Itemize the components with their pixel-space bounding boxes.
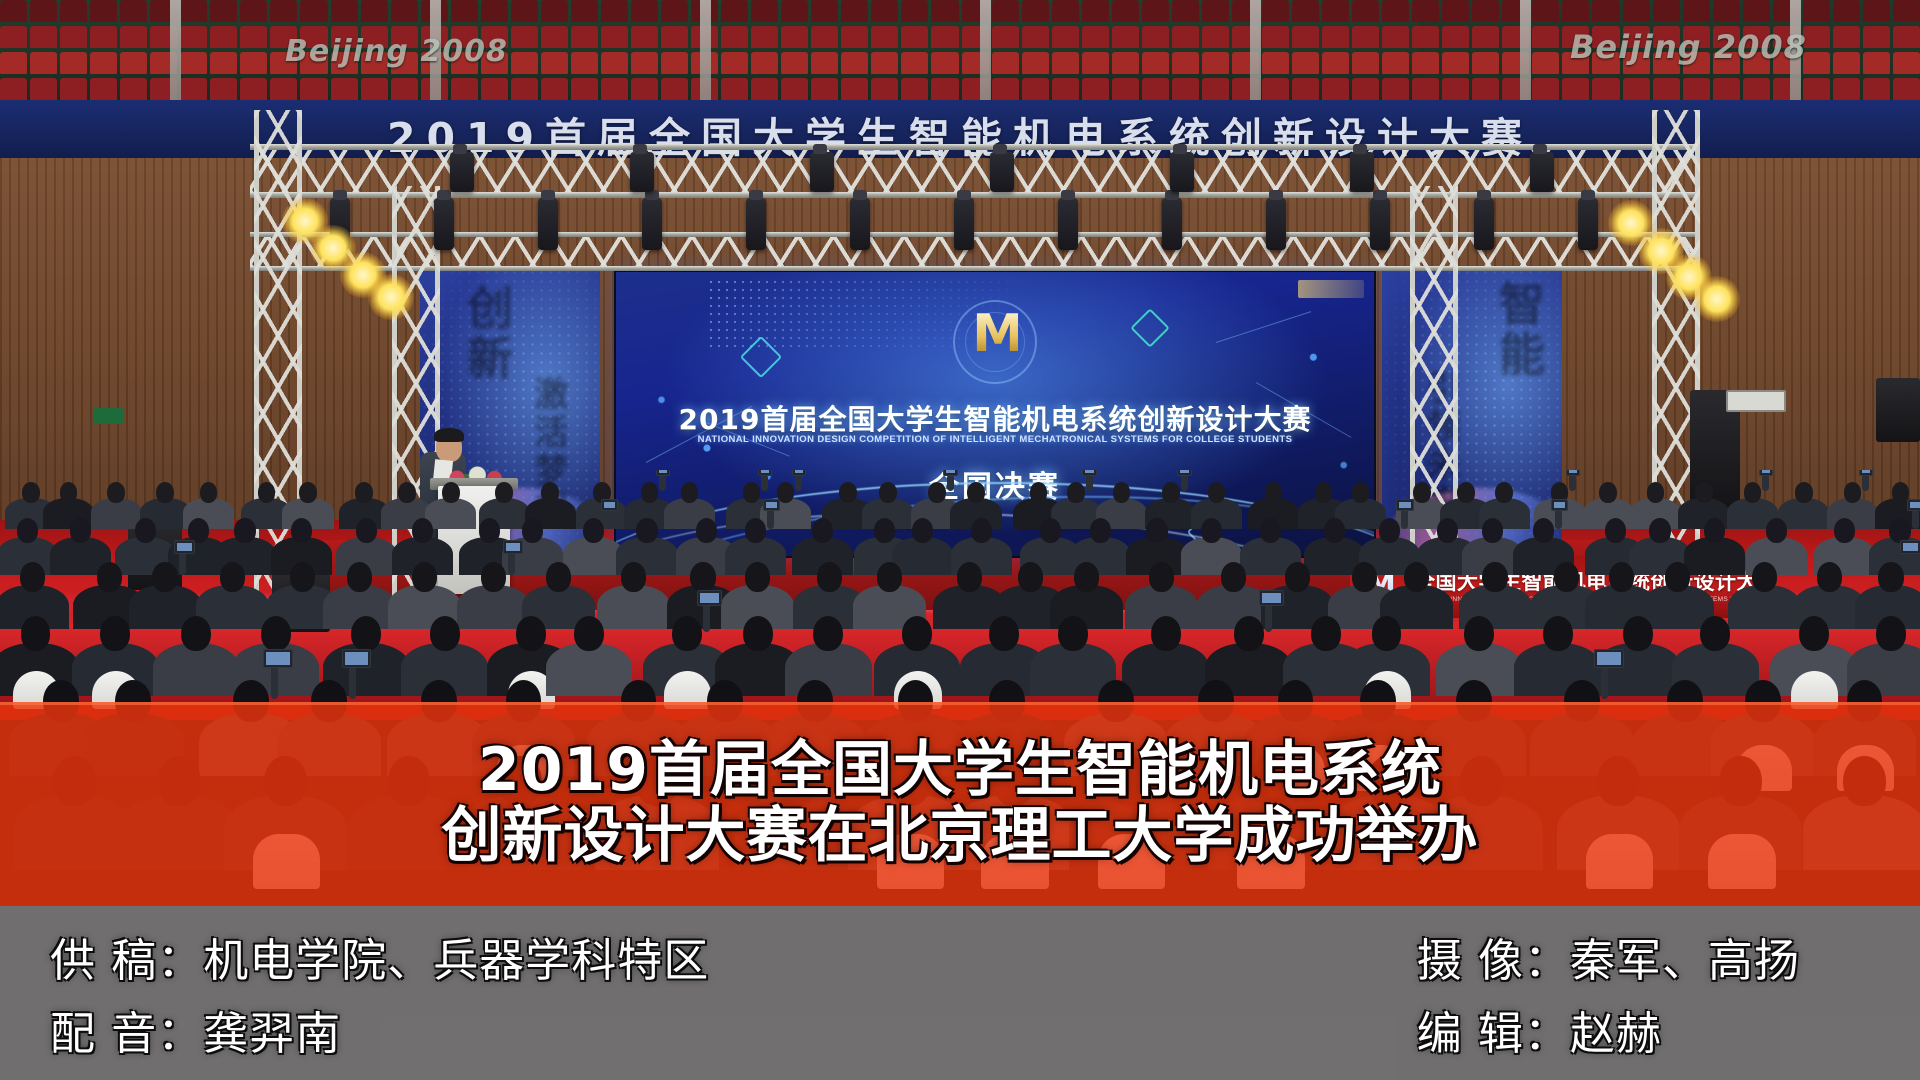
audience-head: [817, 562, 842, 592]
audience-head: [621, 562, 646, 592]
audience-head: [70, 518, 91, 543]
audience-head: [1799, 616, 1829, 651]
audience-head: [1766, 518, 1787, 543]
par-light: [1370, 198, 1390, 250]
seat: [541, 26, 568, 48]
seat: [1623, 0, 1650, 22]
audience-head: [261, 616, 291, 651]
smartphone-screen: [697, 590, 722, 607]
par-light: [1578, 198, 1598, 250]
audience-head: [1554, 562, 1579, 592]
audience-head: [522, 518, 543, 543]
audience-shoulders: [425, 498, 476, 529]
audience-shoulders: [1684, 537, 1745, 574]
aisle-stair: [980, 0, 991, 108]
audience-shoulders: [1728, 585, 1801, 629]
seat: [871, 26, 898, 48]
smartphone-screen: [758, 470, 773, 476]
seat: [210, 26, 237, 48]
moving-head-light: [810, 152, 834, 192]
audience-head: [1647, 482, 1665, 503]
audience-head: [583, 518, 604, 543]
audience-head: [1533, 518, 1554, 543]
seat: [180, 52, 207, 74]
audience-head: [877, 562, 902, 592]
audience-head: [152, 562, 177, 592]
seat: [1893, 26, 1920, 48]
audience-head: [957, 562, 982, 592]
seat: [0, 0, 27, 22]
raised-arm: [767, 508, 774, 529]
seat: [1893, 0, 1920, 22]
seat: [661, 26, 688, 48]
seat: [1112, 26, 1139, 48]
audience-head: [156, 482, 174, 503]
audience-head: [912, 518, 933, 543]
audience-head: [641, 482, 659, 503]
smartphone-screen: [1177, 470, 1192, 476]
pa-speaker-far-right: [1876, 378, 1920, 442]
audience-head: [696, 518, 717, 543]
seat: [871, 0, 898, 22]
smartphone-screen: [1594, 649, 1623, 669]
seat: [751, 52, 778, 74]
audience-head: [20, 562, 45, 592]
audience-head: [1404, 562, 1429, 592]
audience-head: [1495, 482, 1513, 503]
seat: [781, 0, 808, 22]
audience-head: [181, 616, 211, 651]
seat: [571, 0, 598, 22]
seat: [120, 52, 147, 74]
seat: [571, 26, 598, 48]
audience-head: [743, 616, 773, 651]
seat: [1322, 52, 1349, 74]
audience-head: [398, 482, 416, 503]
truss-chord: [250, 266, 1700, 271]
audience-head: [574, 616, 604, 651]
audience-head: [1113, 482, 1131, 503]
seat: [601, 26, 628, 48]
seat: [811, 52, 838, 74]
smartphone-screen: [601, 499, 618, 511]
seat: [1472, 26, 1499, 48]
seat: [901, 52, 928, 74]
seat: [1322, 26, 1349, 48]
audience-head: [220, 562, 245, 592]
smartphone-screen: [503, 540, 524, 554]
stage-lamp-glow: [368, 274, 414, 320]
seat: [1052, 26, 1079, 48]
seat: [751, 26, 778, 48]
seat: [1472, 0, 1499, 22]
smartphone-screen: [656, 470, 671, 476]
raised-arm: [1181, 474, 1188, 492]
seat: [361, 0, 388, 22]
seat: [90, 26, 117, 48]
audience-shoulders: [91, 498, 142, 529]
seat: [1532, 52, 1559, 74]
audience-head: [1208, 482, 1226, 503]
seat: [992, 52, 1019, 74]
audience-head: [874, 518, 895, 543]
seat: [1412, 52, 1439, 74]
led-subtitle-en: NATIONAL INNOVATION DESIGN COMPETITION O…: [616, 434, 1374, 445]
seat: [1382, 0, 1409, 22]
audience-head: [690, 562, 715, 592]
audience-head: [1221, 562, 1246, 592]
seat: [1052, 52, 1079, 74]
seat: [1052, 0, 1079, 22]
panel-left-heading: 创新: [454, 282, 520, 382]
beijing-2008-sign-left: Beijing 2008: [285, 34, 508, 69]
seat: [721, 52, 748, 74]
seat: [631, 26, 658, 48]
seat: [901, 0, 928, 22]
audience-head: [839, 482, 857, 503]
aisle-stair: [1250, 0, 1261, 108]
seat: [210, 52, 237, 74]
seat: [721, 26, 748, 48]
seat: [210, 0, 237, 22]
seat: [721, 0, 748, 22]
raised-arm: [1905, 550, 1912, 575]
audience-head: [1744, 482, 1762, 503]
seat: [931, 52, 958, 74]
seat: [1863, 52, 1890, 74]
seat: [1292, 26, 1319, 48]
moving-head-light: [1170, 152, 1194, 192]
raised-arm: [1086, 474, 1093, 492]
audience-head: [681, 482, 699, 503]
seat-row: [0, 0, 1920, 26]
seat: [1142, 0, 1169, 22]
seat: [1352, 52, 1379, 74]
credit-voiceover: 配 音：龚羿南: [50, 997, 709, 1062]
audience-head: [1265, 482, 1283, 503]
seat: [240, 52, 267, 74]
exit-sign: [93, 408, 123, 424]
seat: [1262, 52, 1289, 74]
raised-arm: [605, 508, 612, 529]
credits-column-left: 供 稿：机电学院、兵器学科特区 配 音：龚羿南: [50, 924, 709, 1062]
audience-head: [812, 518, 833, 543]
audience-shoulders: [563, 537, 624, 574]
moving-head-light: [990, 152, 1014, 192]
audience-head: [430, 616, 460, 651]
audience-head: [479, 518, 500, 543]
audience-head: [1149, 562, 1174, 592]
seat: [931, 0, 958, 22]
raised-arm: [1601, 663, 1608, 699]
aisle-stair: [1520, 0, 1531, 108]
audience-head: [351, 616, 381, 651]
moving-head-light: [1530, 152, 1554, 192]
audience-head: [1834, 518, 1855, 543]
audience-head: [1464, 616, 1494, 651]
credit-camera: 摄 像：秦军、高扬: [1417, 924, 1800, 989]
seat: [1082, 26, 1109, 48]
seat: [331, 0, 358, 22]
audience-head: [60, 482, 78, 503]
par-light: [642, 198, 662, 250]
raised-arm: [703, 602, 710, 632]
par-light: [1474, 198, 1494, 250]
audience-head: [299, 482, 317, 503]
seat: [30, 26, 57, 48]
seat: [811, 26, 838, 48]
seat: [541, 52, 568, 74]
audience-head: [291, 518, 312, 543]
seat: [541, 0, 568, 22]
audience-head: [1040, 518, 1061, 543]
seat: [1442, 26, 1469, 48]
credit-editor: 编 辑：赵赫: [1417, 997, 1800, 1062]
beijing-2008-sign-right: Beijing 2008: [1570, 28, 1807, 66]
seat: [120, 0, 147, 22]
audience-head: [495, 482, 513, 503]
seat: [1082, 0, 1109, 22]
seat: [511, 0, 538, 22]
audience-shoulders: [597, 585, 670, 629]
audience-head: [17, 518, 38, 543]
audience-head: [743, 482, 761, 503]
raised-arm: [659, 474, 666, 492]
seat: [1833, 52, 1860, 74]
seat: [1112, 52, 1139, 74]
audience-head: [21, 616, 51, 651]
smartphone-screen: [1082, 470, 1097, 476]
audience-head: [234, 518, 255, 543]
moving-head-light: [1350, 152, 1374, 192]
audience-head: [1695, 482, 1713, 503]
audience-head: [1457, 482, 1475, 503]
par-light: [746, 198, 766, 250]
seat: [1653, 0, 1680, 22]
audience-head: [412, 562, 437, 592]
audience-head: [356, 518, 377, 543]
seat: [1112, 0, 1139, 22]
par-light: [850, 198, 870, 250]
smartphone-screen: [1566, 470, 1581, 476]
seat: [1202, 52, 1229, 74]
seat: [1532, 26, 1559, 48]
audience-head: [1018, 562, 1043, 592]
seat: [1352, 0, 1379, 22]
seat: [1412, 0, 1439, 22]
raised-arm: [1265, 602, 1272, 632]
audience-head: [355, 482, 373, 503]
seat: [60, 52, 87, 74]
seat: [1142, 52, 1169, 74]
audience-head: [1700, 616, 1730, 651]
seat: [1833, 0, 1860, 22]
seat: [511, 52, 538, 74]
audience-head: [1201, 518, 1222, 543]
seat: [992, 0, 1019, 22]
credits-area: 供 稿：机电学院、兵器学科特区 配 音：龚羿南 摄 像：秦军、高扬 编 辑：赵赫: [0, 906, 1920, 1080]
seat: [240, 0, 267, 22]
audience-head: [1372, 616, 1402, 651]
audience-head: [1151, 616, 1181, 651]
smartphone-screen: [763, 499, 780, 511]
audience-head: [442, 482, 460, 503]
seat: [0, 26, 27, 48]
raised-arm: [1555, 508, 1562, 529]
par-light: [434, 198, 454, 250]
speaker-hair: [434, 428, 464, 442]
seat: [631, 0, 658, 22]
audience-head: [967, 482, 985, 503]
raised-arm: [1762, 474, 1769, 492]
seat: [811, 0, 838, 22]
broadcast-frame: Beijing 2008 Beijing 2008 2019首届全国大学生智能机…: [0, 0, 1920, 1080]
audience-head: [1260, 518, 1281, 543]
stage-lamp-glow: [1694, 276, 1740, 322]
raised-arm: [1912, 508, 1919, 529]
raised-arm: [508, 550, 515, 575]
seat: [1022, 26, 1049, 48]
audience-head: [1609, 562, 1634, 592]
audience-head: [1379, 518, 1400, 543]
audience-head: [412, 518, 433, 543]
aisle-stair: [170, 0, 181, 108]
audience-shoulders: [892, 537, 953, 574]
audience-head: [546, 562, 571, 592]
seat: [1172, 52, 1199, 74]
seat: [1893, 52, 1920, 74]
audience-head: [1090, 518, 1111, 543]
smartphone-screen: [1759, 470, 1774, 476]
audience-head: [1162, 482, 1180, 503]
par-light: [1266, 198, 1286, 250]
seat: [180, 0, 207, 22]
seat: [30, 0, 57, 22]
audience-head: [1074, 562, 1099, 592]
seat: [1292, 0, 1319, 22]
audience-shoulders: [1122, 643, 1209, 696]
raised-arm: [947, 474, 954, 492]
lower-third-band: [0, 702, 1920, 906]
raised-arm: [1401, 508, 1408, 529]
seat: [1022, 52, 1049, 74]
smartphone-screen: [792, 470, 807, 476]
audience-head: [672, 616, 702, 651]
moving-head-light: [630, 152, 654, 192]
seat: [661, 52, 688, 74]
audience-head: [1599, 482, 1617, 503]
audience-head: [1482, 518, 1503, 543]
audience-head: [1795, 482, 1813, 503]
seat: [1863, 26, 1890, 48]
audience-head: [1030, 482, 1048, 503]
seat: [240, 26, 267, 48]
smartphone-screen: [1396, 499, 1413, 511]
seat: [1713, 0, 1740, 22]
seat: [1382, 52, 1409, 74]
audience-head: [636, 518, 657, 543]
audience-head: [1704, 518, 1725, 543]
raised-arm: [761, 474, 768, 492]
seat: [1803, 0, 1830, 22]
panel-right-heading: 智能: [1486, 278, 1552, 378]
led-sponsor-logo: [1298, 280, 1364, 298]
seat: [1562, 0, 1589, 22]
audience-head: [1482, 562, 1507, 592]
raised-arm: [795, 474, 802, 492]
seat: [1202, 26, 1229, 48]
seat: [511, 26, 538, 48]
seat: [871, 52, 898, 74]
audience-head: [1844, 482, 1862, 503]
par-light: [954, 198, 974, 250]
audience-head: [1324, 518, 1345, 543]
raised-arm: [349, 663, 356, 699]
audience-head: [1413, 482, 1431, 503]
seat: [1352, 26, 1379, 48]
seat: [661, 0, 688, 22]
seat: [1292, 52, 1319, 74]
moving-head-light: [450, 152, 474, 192]
seat: [120, 26, 147, 48]
audience-head: [745, 518, 766, 543]
audience-head: [1878, 562, 1903, 592]
audience-head: [1605, 518, 1626, 543]
audience-head: [1315, 482, 1333, 503]
smartphone-screen: [1259, 590, 1284, 607]
raised-arm: [1569, 474, 1576, 492]
seat: [1382, 26, 1409, 48]
seat: [1022, 0, 1049, 22]
audience-head: [745, 562, 770, 592]
audience-head: [135, 518, 156, 543]
seat: [571, 52, 598, 74]
seat: [300, 0, 327, 22]
smartphone-screen: [263, 649, 292, 669]
smartphone-screen: [1900, 540, 1920, 554]
raised-arm: [271, 663, 278, 699]
audience-head: [22, 482, 40, 503]
seat: [451, 0, 478, 22]
raised-arm: [179, 550, 186, 575]
audience-head: [1817, 562, 1842, 592]
smartphone-screen: [1907, 499, 1920, 511]
audience-shoulders: [153, 643, 240, 696]
seat: [481, 0, 508, 22]
led-title: 2019首届全国大学生智能机电系统创新设计大赛: [616, 398, 1374, 438]
seat: [841, 26, 868, 48]
seat: [1202, 0, 1229, 22]
audience-head: [879, 482, 897, 503]
raised-arm: [1862, 474, 1869, 492]
smartphone-screen: [174, 540, 195, 554]
seat: [270, 0, 297, 22]
audience-head: [1311, 616, 1341, 651]
audience-head: [813, 616, 843, 651]
emblem-letter: M: [972, 308, 1018, 360]
seat: [931, 26, 958, 48]
par-light: [1058, 198, 1078, 250]
audience-head: [971, 518, 992, 543]
audience-head: [1067, 482, 1085, 503]
truss-chord: [250, 144, 1700, 150]
seat: [751, 0, 778, 22]
audience-head: [541, 482, 559, 503]
audience-head: [1352, 562, 1377, 592]
seat: [90, 0, 117, 22]
audience-head: [481, 562, 506, 592]
audience-head: [97, 562, 122, 592]
